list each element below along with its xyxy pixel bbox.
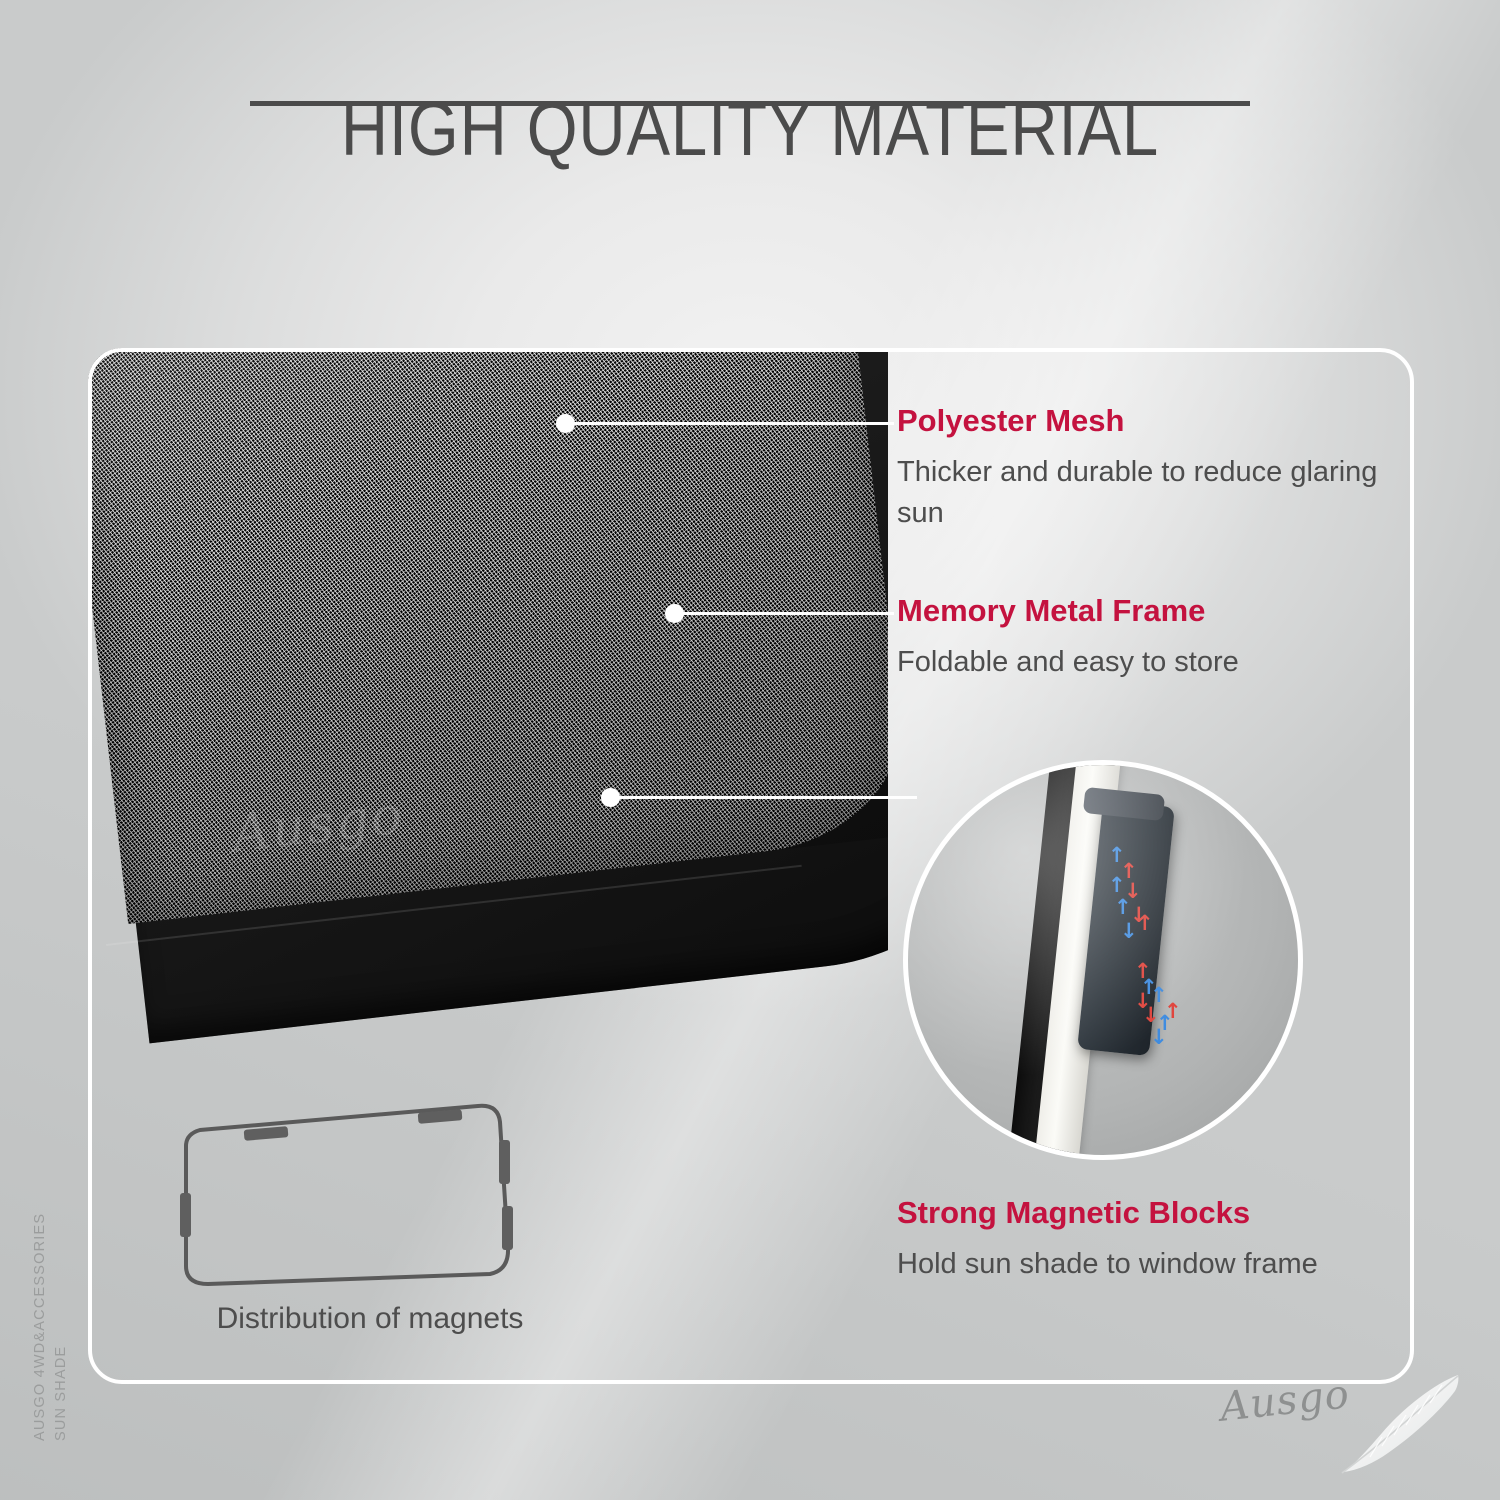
magnetic-field-arrow-blue: ↑ [1114,897,1132,918]
feather-icon [1318,1369,1468,1484]
title-underline-rule [250,101,1250,106]
callout-body-strong-magnetic-blocks: Hold sun shade to window frame [897,1244,1397,1285]
sidebar-caption-line-1: AUSGO 4WD&ACCESSORIES [30,1181,51,1441]
magnet-block-top-left [244,1126,289,1141]
leader-line-polyester-mesh [572,422,894,425]
callout-heading-strong-magnetic-blocks: Strong Magnetic Blocks [897,1196,1397,1230]
magnet-distribution-svg [168,1098,528,1298]
sidebar-caption-line-2: SUN SHADE [51,1181,72,1441]
magnetic-field-arrow-blue: ↑ [1108,875,1126,896]
magnetic-field-arrow-red: ↑ [1164,1001,1182,1022]
callout-heading-polyester-mesh: Polyester Mesh [897,404,1397,438]
magnet-block-right-upper [499,1140,510,1184]
magnet-diagram-caption: Distribution of magnets [160,1302,580,1336]
callout-strong-magnetic-blocks: Strong Magnetic Blocks Hold sun shade to… [897,1196,1397,1285]
callout-heading-memory-metal-frame: Memory Metal Frame [897,594,1397,628]
magnet-distribution-diagram [168,1098,528,1298]
brand-logo: Ausgo [1212,1358,1462,1478]
magnetic-field-arrow-red: ↑ [1136,913,1154,934]
callout-body-polyester-mesh: Thicker and durable to reduce glaring su… [897,452,1397,534]
magnetic-block-closeup-inset: ↑ ↑ ↑ ↓ ↑ ↓ ↓ ↑ ↑ ↑ ↓ ↑ ↓ ↑ ↓ ↑ [903,760,1303,1160]
callout-body-memory-metal-frame: Foldable and easy to store [897,642,1397,683]
magnetic-field-arrow-blue: ↓ [1120,921,1138,942]
callout-polyester-mesh: Polyester Mesh Thicker and durable to re… [897,404,1397,534]
magnet-block-left [180,1193,191,1237]
magnetic-field-arrow-blue: ↓ [1150,1027,1168,1048]
sidebar-product-caption: AUSGO 4WD&ACCESSORIES SUN SHADE [30,1181,72,1441]
magnet-block-right-lower [502,1206,513,1250]
window-outline-shape [186,1106,508,1284]
leader-line-magnetic-blocks [617,796,917,799]
callout-memory-metal-frame: Memory Metal Frame Foldable and easy to … [897,594,1397,683]
leader-line-memory-metal-frame [681,612,894,615]
